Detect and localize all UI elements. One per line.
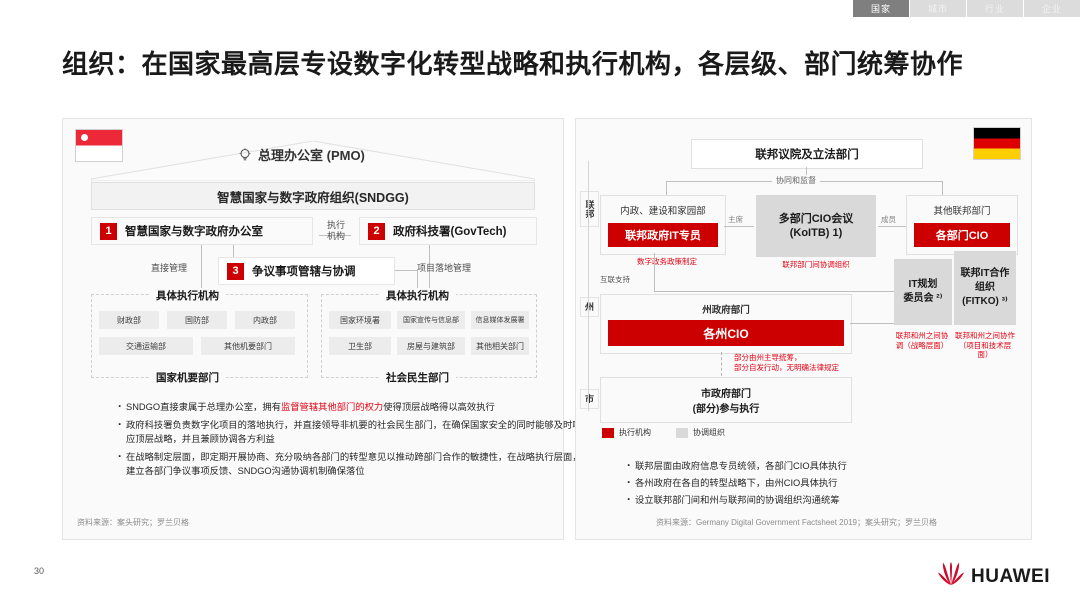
fitko-line2: 组织 [975, 281, 995, 295]
group-left-bottom-title: 国家机要部门 [149, 370, 226, 385]
city-gov-line1: 市政府部门 [701, 385, 751, 400]
state-cio-box: 各州CIO [608, 320, 844, 346]
left-source-note: 资料来源：案头研究；罗兰贝格 [77, 517, 189, 528]
badge-2: 2 [368, 223, 385, 240]
dept-box: 内政部 [235, 311, 295, 329]
dept-cio-box: 各部门CIO [914, 223, 1010, 247]
level-axis-line [588, 161, 589, 411]
tab-group: 国家 城市 行业 企业 [852, 0, 1080, 17]
dept-box: 其他相关部门 [471, 337, 529, 355]
lightbulb-icon [238, 148, 252, 162]
dashed-connector [721, 352, 722, 376]
left-panel-singapore: 总理办公室 (PMO) «« »» 智慧国家与数字政府组织(SNDGG) 1 智… [62, 118, 564, 540]
tab-enterprise[interactable]: 企业 [1023, 0, 1080, 17]
interior-ministry-title: 内政、建设和家园部 [601, 203, 725, 217]
oversight-line [942, 181, 943, 195]
chair-arrow-line [724, 226, 754, 227]
page-title: 组织：在国家最高层专设数字化转型战略和执行机构，各层级、部门统筹协作 [62, 47, 1042, 81]
dept-box: 国家环境署 [329, 311, 391, 329]
it-planning-line1: IT规划 [909, 278, 938, 292]
koitb-box: 多部门CIO会议 (KoITB) 1) [756, 195, 876, 257]
legend-label-executing: 执行机构 [619, 427, 651, 438]
sndgo-office-label: 智慧国家与数字政府办公室 [125, 223, 263, 239]
list-item: 政府科技署负责数字化项目的落地执行，并直接领导非机要的社会民生部门，在确保国家安… [117, 418, 589, 447]
pmo-label: 总理办公室 (PMO) [258, 145, 365, 164]
list-item: SNDGO直接隶属于总理办公室，拥有监督管辖其他部门的权力使得顶层战略得以高效执… [117, 400, 589, 415]
state-gov-title: 州政府部门 [601, 302, 851, 316]
legend-executing: 执行机构 [602, 427, 651, 438]
list-item: 各州政府在各自的转型战略下，由州CIO具体执行 [626, 475, 1056, 492]
oversight-label: 协同和监督 [772, 175, 820, 186]
highlight-text: 监督管辖其他部门的权力 [281, 402, 383, 412]
tab-industry[interactable]: 行业 [966, 0, 1023, 17]
state-gov-box: 州政府部门 各州CIO [600, 294, 852, 354]
legend-label-coordinating: 协调组织 [693, 427, 725, 438]
left-bullet-list: SNDGO直接隶属于总理办公室，拥有监督管辖其他部门的权力使得顶层战略得以高效执… [77, 400, 589, 482]
fitko-box: 联邦IT合作 组织 (FITKO) ³⁾ [954, 251, 1016, 325]
legend-swatch-executing-icon [602, 428, 614, 438]
state-led-note: 部分由州主导统筹， 部分自发行动，无明确法律规定 [734, 353, 964, 372]
dept-box: 交通运输部 [99, 337, 193, 355]
koitb-line1: 多部门CIO会议 [779, 212, 854, 226]
huawei-logo: HUAWEI [938, 562, 1050, 591]
it-planning-note: 联邦和州之间协调（战略层面） [894, 331, 950, 350]
pmo-label-wrap: 总理办公室 (PMO) [238, 145, 365, 164]
group-right-bottom-title: 社会民生部门 [379, 370, 456, 385]
dept-box: 国防部 [167, 311, 227, 329]
city-gov-line2: (部分)参与执行 [693, 400, 760, 415]
legend-coordinating: 协调组织 [676, 427, 725, 438]
fitko-line3: (FITKO) ³⁾ [962, 295, 1008, 309]
level-label-federal: 联邦 [580, 191, 599, 227]
badge-1: 1 [100, 223, 117, 240]
tab-country[interactable]: 国家 [852, 0, 909, 17]
badge-3: 3 [227, 263, 244, 280]
germany-flag-icon [973, 127, 1021, 160]
right-source-note: 资料来源：Germany Digital Government Factshee… [656, 517, 937, 528]
crescent-moon-icon [81, 134, 88, 141]
koitb-line2: (KoITB) 1) [790, 226, 843, 240]
govtech-label: 政府科技署(GovTech) [393, 223, 507, 239]
dispute-coordination-label: 争议事项管辖与协调 [252, 263, 356, 279]
other-federal-depts-box: 其他联邦部门 各部门CIO [906, 195, 1018, 255]
dept-box: 信息媒体发展署 [471, 311, 529, 329]
exec-agency-arrow-label: 执行 机构 [316, 220, 356, 242]
list-item: 在战略制定层面，即定期开展协商、充分吸纳各部门的转型意见以推动跨部门合作的敏捷性… [117, 450, 589, 479]
oversight-line [666, 181, 667, 195]
dept-box: 其他机要部门 [201, 337, 295, 355]
member-arrow-line [878, 226, 906, 227]
parliament-label: 联邦议院及立法部门 [755, 146, 859, 162]
connector-line [850, 323, 894, 324]
huawei-flower-icon [938, 562, 964, 591]
right-panel-germany: 联邦 州 市 联邦议院及立法部门 协同和监督 内政、建设和家园部 联邦政府IT专… [575, 118, 1032, 540]
group-social-livelihood [321, 294, 537, 378]
interior-ministry-box: 内政、建设和家园部 联邦政府IT专员 [600, 195, 726, 255]
project-landing-label: 项目落地管理 [401, 263, 487, 274]
group-right-top-title: 具体执行机构 [379, 288, 456, 303]
koitb-note: 联邦部门间协调组织 [756, 260, 876, 270]
tab-city[interactable]: 城市 [909, 0, 966, 17]
federal-it-commissioner-box: 联邦政府IT专员 [608, 223, 718, 247]
dept-box: 房屋与建筑部 [397, 337, 465, 355]
dept-box: 国家宣传与信息部 [397, 311, 465, 329]
mutual-support-label: 互联支持 [600, 274, 630, 285]
group-left-top-title: 具体执行机构 [149, 288, 226, 303]
govtech-box: 2 政府科技署(GovTech) [359, 217, 537, 245]
dept-box: 卫生部 [329, 337, 391, 355]
connector-line [654, 253, 655, 291]
right-bullet-list: 联邦层面由政府信息专员统领，各部门CIO具体执行 各州政府在各自的转型战略下，由… [586, 458, 1056, 509]
parliament-box: 联邦议院及立法部门 [691, 139, 923, 169]
list-item: 联邦层面由政府信息专员统领，各部门CIO具体执行 [626, 458, 1056, 475]
member-label: 成员 [881, 214, 896, 225]
it-planning-line2: 委员会 ²⁾ [904, 292, 943, 306]
connector-line [201, 243, 202, 294]
sndgo-office-box: 1 智慧国家与数字政府办公室 [91, 217, 313, 245]
sndgg-bar: 智慧国家与数字政府组织(SNDGG) [91, 182, 535, 210]
top-tab-bar: 国家 城市 行业 企业 [0, 0, 1080, 17]
level-label-state: 州 [580, 297, 599, 317]
connector-line [654, 291, 906, 292]
level-label-city: 市 [580, 389, 599, 409]
it-planning-committee-box: IT规划 委员会 ²⁾ [894, 259, 952, 325]
interior-ministry-note: 数字政务政策制定 [612, 257, 722, 267]
chair-label: 主席 [728, 214, 743, 225]
dept-box: 财政部 [99, 311, 159, 329]
city-gov-box: 市政府部门 (部分)参与执行 [600, 377, 852, 423]
group-national-core [91, 294, 308, 378]
fitko-line1: 联邦IT合作 [961, 267, 1010, 281]
legend-swatch-coordinating-icon [676, 428, 688, 438]
huawei-wordmark: HUAWEI [971, 566, 1050, 588]
page-number: 30 [34, 566, 44, 576]
dispute-coordination-box: 3 争议事项管辖与协调 [218, 257, 395, 285]
other-federal-title: 其他联邦部门 [907, 203, 1017, 217]
direct-manage-label: 直接管理 [139, 263, 199, 274]
list-item: 设立联邦部门间和州与联邦间的协调组织沟通统筹 [626, 492, 1056, 509]
